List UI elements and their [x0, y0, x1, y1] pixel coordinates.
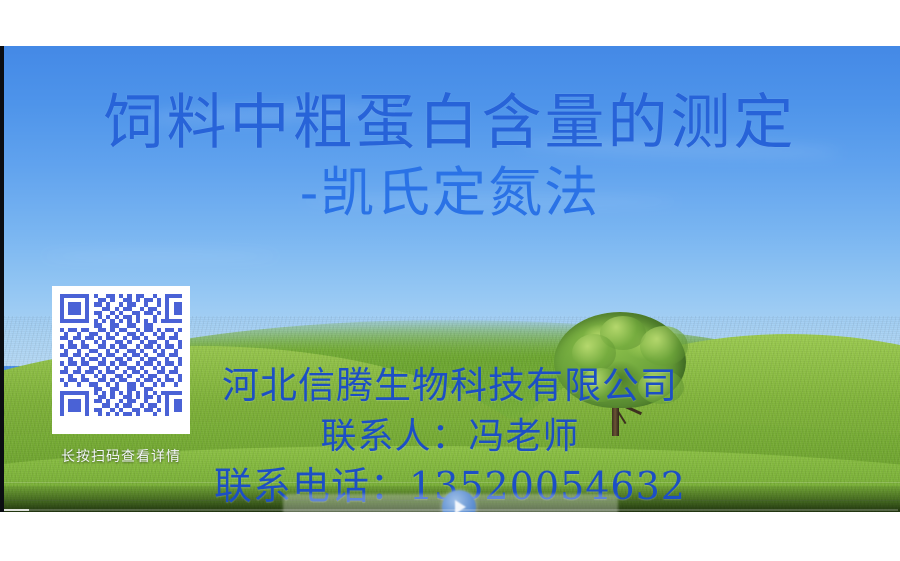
qr-caption: 长按扫码查看详情 [41, 446, 201, 466]
progress-bar-track[interactable] [2, 509, 898, 511]
slide-title-subtitle: -凯氏定氮法 [0, 160, 900, 226]
progress-bar-fill [2, 509, 29, 511]
slide-title-block: 饲料中粗蛋白含量的测定 -凯氏定氮法 [0, 86, 900, 226]
video-stage[interactable]: 饲料中粗蛋白含量的测定 -凯氏定氮法 长按扫码查看详情 河北信腾生物科技有限公司… [0, 46, 900, 512]
leaf-clump [640, 326, 688, 366]
page-root: 饲料中粗蛋白含量的测定 -凯氏定氮法 长按扫码查看详情 河北信腾生物科技有限公司… [0, 0, 900, 561]
qr-code-image[interactable] [60, 294, 182, 416]
video-left-bezel [0, 46, 4, 512]
qr-code-card[interactable] [52, 286, 190, 434]
cloud-streak-icon [40, 251, 280, 261]
player-controls-overlay[interactable] [0, 478, 900, 512]
slide-title-primary: 饲料中粗蛋白含量的测定 [0, 86, 900, 160]
qr-block[interactable]: 长按扫码查看详情 [52, 286, 201, 466]
